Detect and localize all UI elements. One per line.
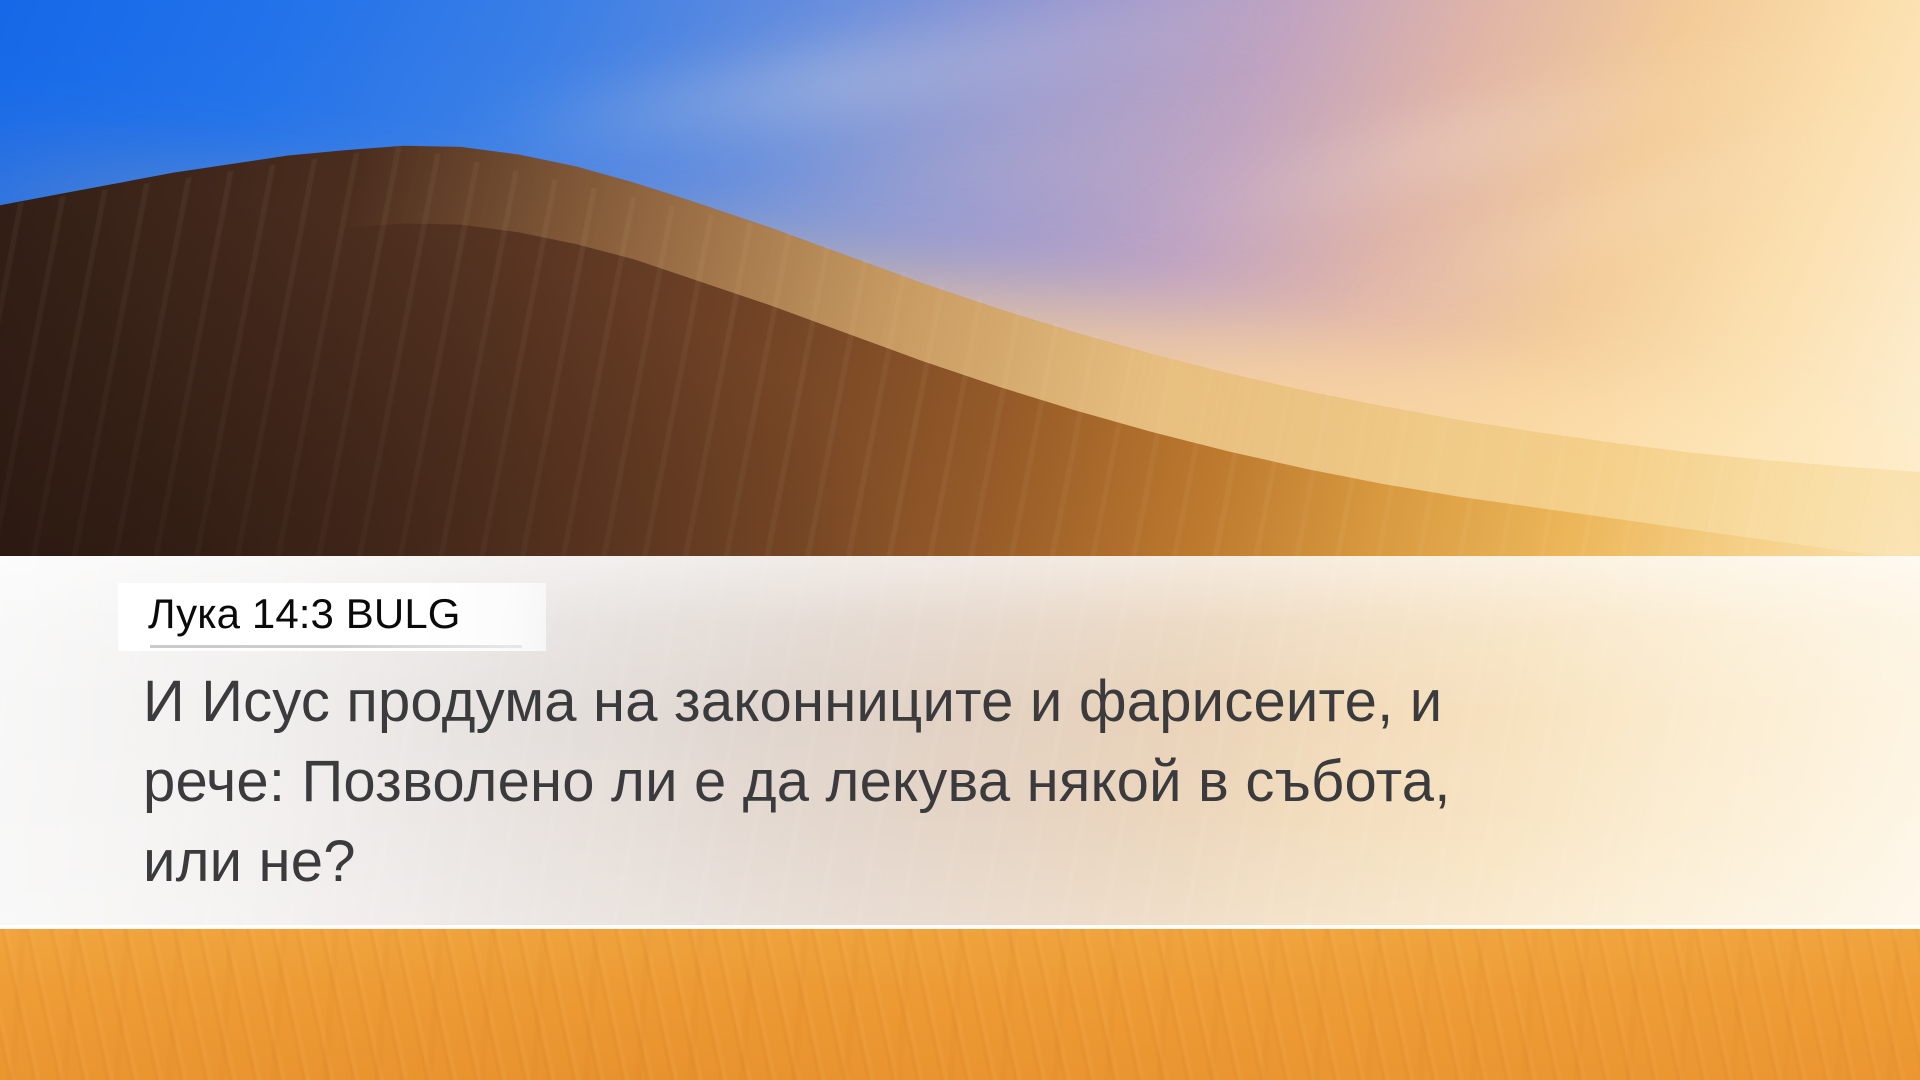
verse-text-line: или не? bbox=[143, 822, 1803, 902]
verse-text: И Исус продума на законниците и фарисеит… bbox=[143, 662, 1803, 902]
verse-reference-underline bbox=[150, 645, 522, 648]
verse-text-line: И Исус продума на законниците и фарисеит… bbox=[143, 662, 1803, 742]
verse-text-line: рече: Позволено ли е да лекува някой в с… bbox=[143, 742, 1803, 822]
foreground-sand bbox=[0, 928, 1920, 1080]
verse-panel-bottom-divider bbox=[0, 925, 1920, 929]
verse-image-canvas: Лука 14:3 BULG И Исус продума на законни… bbox=[0, 0, 1920, 1080]
sand-light-sheen bbox=[0, 928, 1920, 1080]
verse-reference-label: Лука 14:3 BULG bbox=[148, 586, 461, 642]
